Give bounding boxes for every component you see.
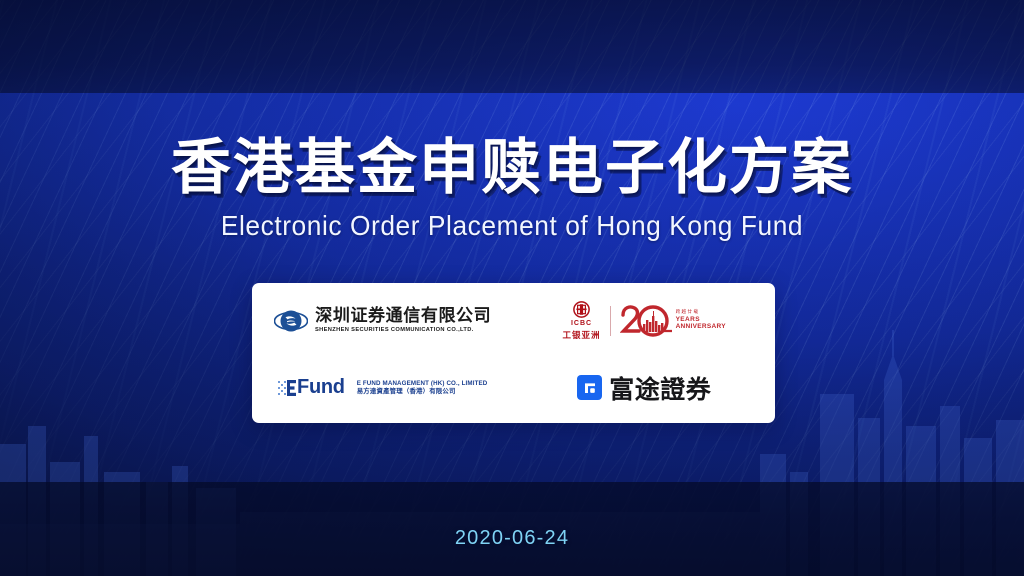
partner-logo-card: 深圳证券通信有限公司 SHENZHEN SECURITIES COMMUNICA… [252,283,775,423]
anniversary-text-block: 跨越廿载 YEARS ANNIVERSARY [676,310,726,330]
efund-wordmark: Fund [278,376,345,399]
anniversary-label: ANNIVERSARY [676,323,726,330]
futu-glyph-icon [582,380,598,396]
szsc-text-block: 深圳证券通信有限公司 SHENZHEN SECURITIES COMMUNICA… [315,308,491,334]
logo-icbc-asia: ICBC 工银亚洲 [563,301,726,341]
presentation-slide: 香港基金申赎电子化方案 Electronic Order Placement o… [0,0,1024,576]
szsc-name-english: SHENZHEN SECURITIES COMMUNICATION CO.,LT… [315,328,495,334]
icbc-abbreviation: ICBC [571,320,592,327]
efund-word: Fund [297,376,345,399]
icbc-emblem-icon [573,301,590,318]
logo-futu-securities: 富途證券 [577,370,711,406]
szsc-name-chinese: 深圳证券通信有限公司 [315,308,491,325]
logo-e-fund-management: Fund E FUND MANAGEMENT (HK) CO., LIMITED… [278,376,487,399]
title-english: Electronic Order Placement of Hong Kong … [31,210,994,242]
logo-shenzhen-securities-communication: 深圳证券通信有限公司 SHENZHEN SECURITIES COMMUNICA… [274,308,491,334]
efund-name-chinese: 易方達資產管理（香港）有限公司 [357,387,488,395]
efund-text-block: E FUND MANAGEMENT (HK) CO., LIMITED 易方達資… [357,380,488,396]
anniversary-years-label: YEARS [676,316,726,323]
futu-name-chinese: 富途證券 [609,370,711,406]
slide-date: 2020-06-24 [0,527,1024,550]
icbc-name-chinese: 工银亚洲 [563,329,601,341]
title-block: 香港基金申赎电子化方案 Electronic Order Placement o… [0,136,1024,242]
anniversary-20-icon [620,304,672,338]
icbc-divider [610,306,611,336]
icbc-anniversary-mark: 跨越廿载 YEARS ANNIVERSARY [620,304,726,338]
szsc-emblem-icon [274,308,308,334]
futu-badge-icon [577,375,602,400]
title-chinese: 香港基金申赎电子化方案 [0,136,1024,201]
efund-e-icon [278,378,296,398]
icbc-mark-block: ICBC 工银亚洲 [563,301,601,341]
background-top-band [0,0,1024,93]
